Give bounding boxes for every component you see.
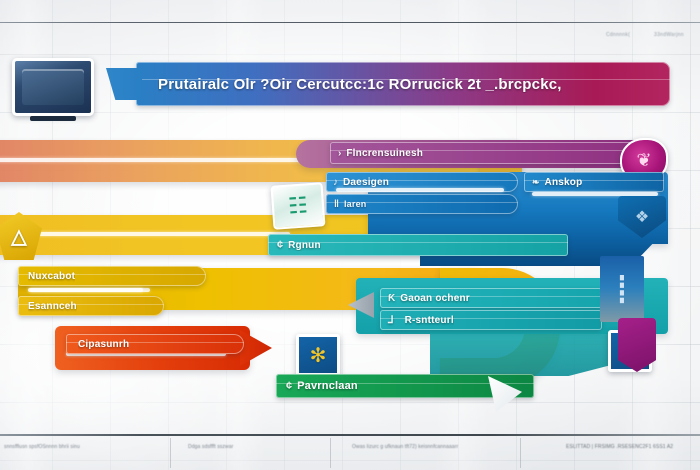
bar-flncrensuinesh[interactable]: › Flncrensuinesh (330, 142, 650, 164)
title-banner[interactable]: Prutairalc Olr ?Oir Cercutcc:1c ROrrucic… (136, 62, 670, 106)
infographic-canvas: △ Prutairalc Olr ?Oir Cercutcc:1c ROrruc… (0, 0, 700, 470)
bar-pavrnclaan-label: Pavrnclaan (297, 380, 358, 392)
pipe-orange-upper-track (0, 158, 320, 162)
bars-icon: ‖ (334, 199, 339, 210)
flower-icon: ❧ (532, 177, 540, 188)
cent-icon: ¢ (277, 239, 283, 251)
factory-icon: ☷ (271, 182, 326, 230)
footer-caption-3: Owas lizurc g ufknaun tft72) keisnnfcann… (352, 443, 458, 451)
bar-nuxcabot-track (28, 288, 143, 292)
bar-gaoan-ochenr-label: Gaoan ochenr (400, 293, 470, 304)
bar-anskop[interactable]: ❧ Anskop (524, 172, 664, 192)
bar-rgnun[interactable]: ¢ Rgnun (268, 234, 568, 256)
footer-caption-4: ESLITTAD | FRSIMG .RSESENC2F1 6SS1 A2 (566, 443, 673, 451)
title-banner-label: Prutairalc Olr ?Oir Cercutcc:1c ROrrucic… (158, 76, 562, 93)
bar-cipasunrh-label: Cipasunrh (78, 339, 129, 350)
bottom-rule (0, 434, 700, 436)
bar-rgnun-label: Rgnun (288, 240, 321, 251)
footer-divider-2 (330, 438, 331, 468)
note-icon: ♪ (333, 177, 338, 188)
bar-esannceh-label: Esannceh (28, 301, 77, 312)
integral-icon: ⅃ (388, 315, 394, 326)
bar-iaren[interactable]: ‖ Iaren (326, 194, 518, 214)
bar-gaoan-ochenr[interactable]: Ƙ Gaoan ochenr (380, 288, 602, 308)
ribbon-icon-glyph: ❦ (636, 150, 651, 171)
top-rule (0, 22, 700, 23)
header-caption-1: Cdnnnnk( (606, 32, 630, 38)
bar-nuxcabot-label: Nuxcabot (28, 271, 75, 282)
bar-nuxcabot[interactable]: Nuxcabot (18, 266, 206, 286)
bar-rsntteurl[interactable]: ⅃ R-sntteurl (380, 310, 602, 330)
key-icon: Ƙ (388, 293, 395, 304)
castle-icon: ✻ (296, 334, 340, 376)
header-caption-2: 33ndWarjnn (654, 32, 684, 38)
bar-anskop-label: Anskop (545, 177, 583, 188)
bar-cipasunrh[interactable]: Cipasunrh (66, 334, 244, 354)
footer-divider-3 (520, 438, 521, 468)
bar-esannceh[interactable]: Esannceh (18, 296, 164, 316)
chevron-right-icon: › (338, 148, 341, 159)
footer-divider-1 (170, 438, 171, 468)
footer-caption-1: snnsfflusn spsfOSnnnn bhrii sinu (4, 443, 80, 451)
factory-icon-glyph: ☷ (287, 192, 308, 219)
monitor-icon (12, 58, 94, 116)
footer-caption-2: Ddga sdsffft sszwar (188, 443, 233, 451)
bar-daesigen-track (336, 188, 504, 192)
cent-icon-green: ¢ (286, 380, 292, 392)
tower-icon-glyph: ┋ (614, 274, 630, 305)
bar-daesigen-label: Daesigen (343, 177, 389, 188)
pipe-amber-mid-track (0, 232, 290, 236)
bar-rsntteurl-label: R-sntteurl (405, 315, 454, 326)
monitor-stand (30, 116, 76, 121)
tower-icon: ┋ (600, 256, 644, 322)
bar-iaren-label: Iaren (344, 199, 367, 209)
bar-flncrensuinesh-label: Flncrensuinesh (346, 148, 423, 159)
bar-anskop-track (532, 192, 658, 196)
